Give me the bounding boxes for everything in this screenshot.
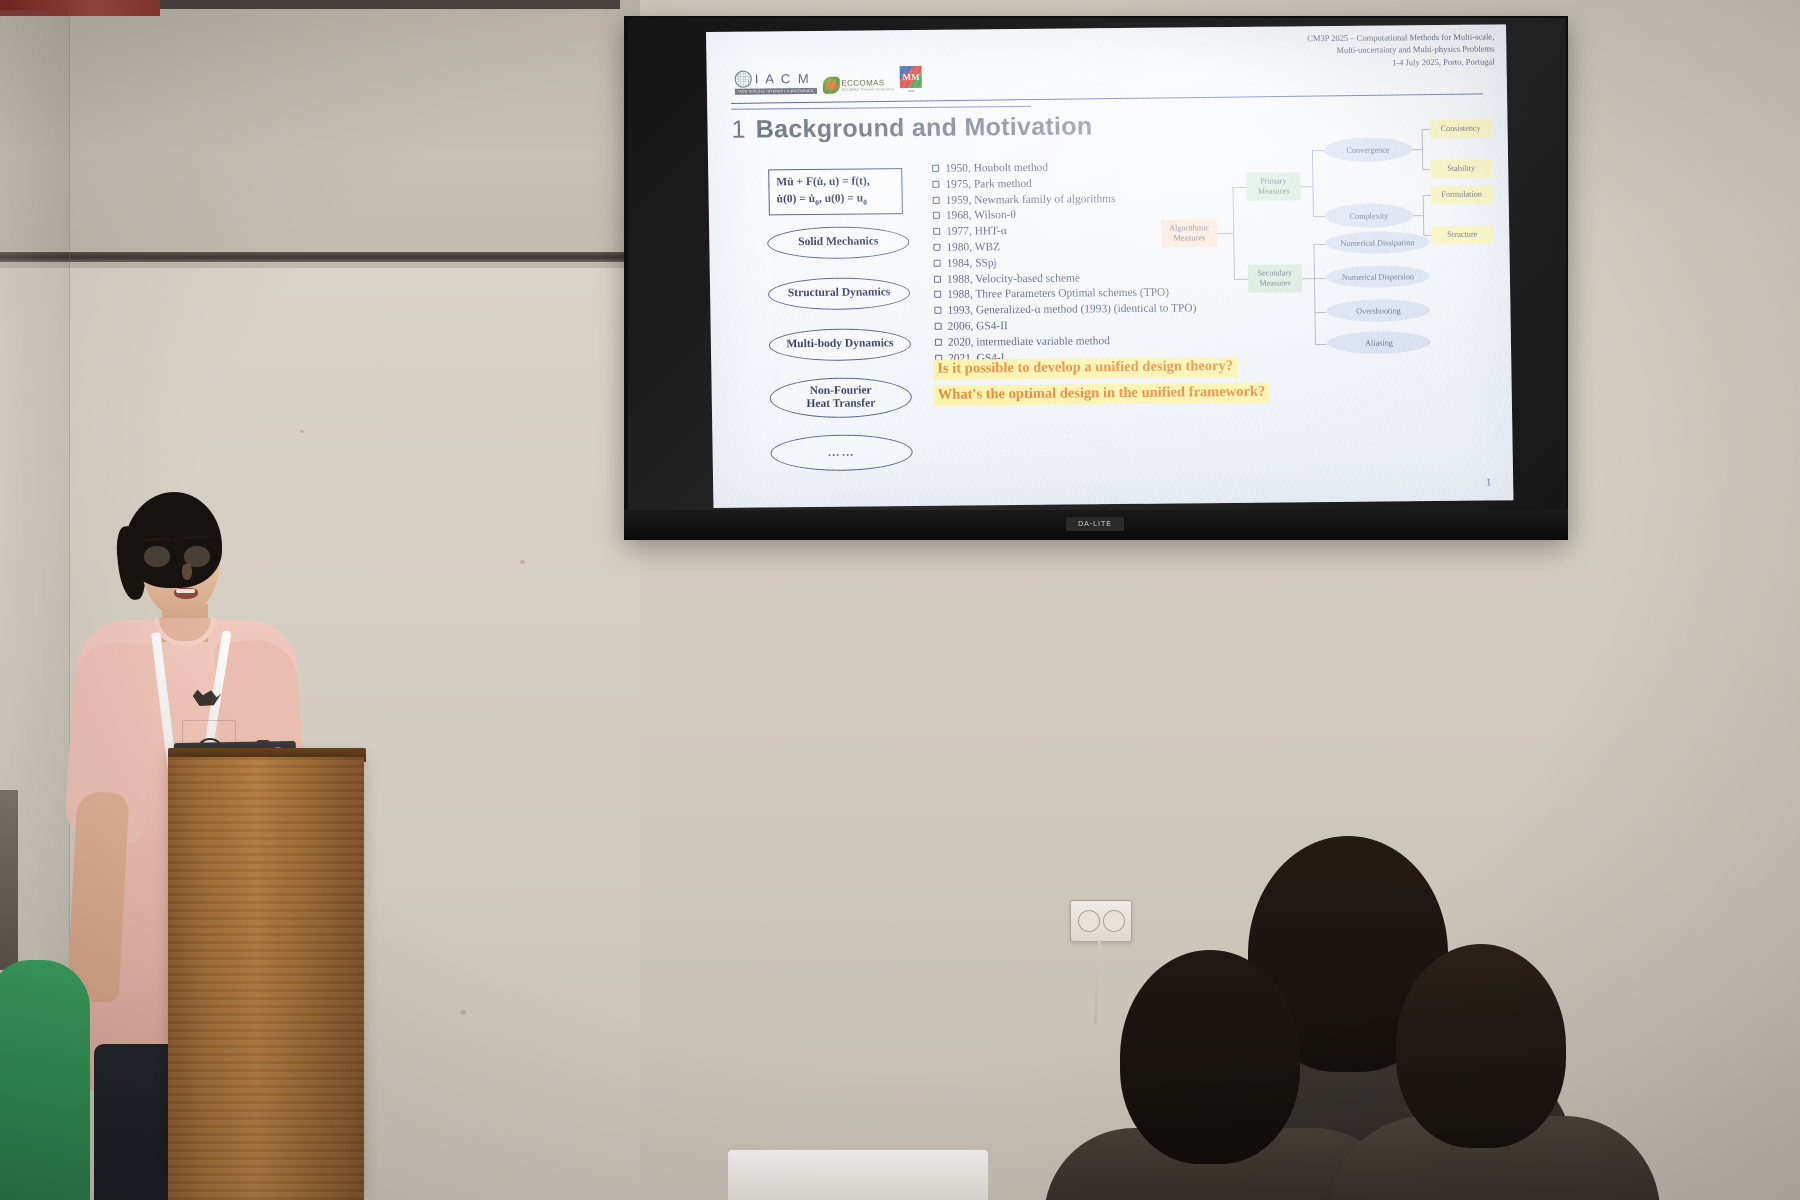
highlighted-questions: Is it possible to develop a unified desi…	[933, 357, 1269, 412]
slide-title-number: 1	[731, 116, 746, 144]
list-item: 1950, Houbolt method	[932, 161, 1194, 175]
speaker-nose	[182, 564, 192, 580]
iacm-logo-text: I A C M	[755, 71, 811, 87]
flow-connector	[1422, 129, 1424, 169]
flow-connector	[1313, 244, 1316, 344]
flow-node-convergence: Convergence	[1324, 137, 1412, 162]
header-divider-secondary	[731, 106, 1031, 110]
lecture-hall-scene: CM3P 2025 – Computational Methods for Mu…	[0, 0, 1800, 1200]
speaker-arm-left	[67, 791, 130, 1003]
question-line-2: What's the optimal design in the unified…	[934, 383, 1270, 406]
flow-connector	[1422, 169, 1430, 170]
flow-connector	[1422, 129, 1430, 130]
list-item: 1977, HHT-α	[933, 224, 1195, 238]
glasses-bridge	[172, 553, 183, 555]
flow-connector	[1217, 233, 1233, 234]
flow-node-primary-measures: Primary Measures	[1246, 172, 1300, 201]
checkbox-icon	[934, 275, 941, 282]
checkbox-icon	[934, 307, 941, 314]
flow-node-numerical-dispersion: Numerical Dispersion	[1326, 265, 1430, 288]
checkbox-icon	[934, 291, 941, 298]
flow-connector	[1232, 187, 1246, 188]
list-item: 1988, Velocity-based scheme	[934, 272, 1196, 286]
logo-row: I A C M IACM SPECIAL INTEREST CONFERENCE…	[735, 66, 923, 95]
audience-green-shirt	[0, 960, 90, 1200]
list-item-label: 1968, Wilson-θ	[946, 210, 1016, 222]
flow-connector	[1313, 244, 1325, 245]
slide-title-text: Background and Motivation	[756, 112, 1093, 143]
eccomas-logo: ECCOMAS ECCOMAS Thematic Conference	[822, 76, 894, 94]
checkbox-icon	[933, 228, 940, 235]
flow-node-aliasing: Aliasing	[1327, 331, 1431, 354]
outlet-socket-left	[1078, 910, 1100, 932]
checkbox-icon	[935, 323, 942, 330]
mm-cube-icon	[900, 66, 922, 88]
list-item-label: 2006, GS4-II	[948, 321, 1008, 333]
list-item: 2020, intermediate variable method	[935, 335, 1197, 349]
flow-node-algorithmic-measures: Algorithmic Measures	[1161, 219, 1217, 248]
flow-connector	[1232, 187, 1234, 279]
checkbox-icon	[933, 196, 940, 203]
flow-connector	[1423, 195, 1431, 196]
wall-blemish	[520, 560, 525, 564]
flow-node-complexity: Complexity	[1325, 203, 1413, 228]
speaker-hair	[124, 492, 222, 588]
flow-node-numerical-dissipation: Numerical Dissipation	[1325, 231, 1429, 254]
flow-connector	[1300, 186, 1312, 187]
header-divider	[731, 93, 1483, 104]
outlet-socket-right	[1103, 910, 1125, 932]
flow-connector	[1312, 150, 1314, 216]
list-item: 1980, WBZ	[933, 240, 1195, 254]
flow-connector	[1313, 216, 1325, 217]
list-item: 1959, Newmark family of algorithms	[933, 193, 1195, 207]
list-item-label: 1988, Velocity-based scheme	[947, 273, 1080, 286]
list-item-label: 1959, Newmark family of algorithms	[946, 194, 1116, 207]
algorithmic-measures-flowchart: Algorithmic Measures Primary Measures Se…	[1160, 124, 1493, 347]
method-timeline-list: 1950, Houbolt method 1975, Park method 1…	[932, 161, 1197, 385]
flow-connector	[1315, 344, 1327, 345]
domain-ellipse-solid-mechanics: Solid Mechanics	[767, 226, 909, 259]
leaf-icon	[822, 77, 839, 94]
flow-connector	[1314, 312, 1326, 313]
slide-title: 1Background and Motivation	[731, 112, 1092, 144]
checkbox-icon	[933, 212, 940, 219]
question-line-1: Is it possible to develop a unified desi…	[933, 357, 1237, 380]
wall-blemish	[460, 1010, 466, 1015]
flow-connector	[1314, 278, 1326, 279]
list-item: 2006, GS4-II	[935, 319, 1197, 333]
iacm-logo-subtitle: IACM SPECIAL INTEREST CONFERENCE	[735, 88, 817, 95]
checkbox-icon	[933, 244, 940, 251]
slide-page-number: 1	[1486, 477, 1491, 488]
domain-ellipse-non-fourier-heat-transfer: Non-Fourier Heat Transfer	[769, 377, 912, 418]
list-item: 1993, Generalized-α method (1993) (ident…	[934, 303, 1196, 317]
wall-rail	[0, 252, 630, 262]
glasses-lens-left	[142, 544, 172, 569]
eccomas-logo-subtitle: ECCOMAS Thematic Conference	[841, 87, 894, 92]
flow-node-secondary-measures: Secondary Measures	[1248, 264, 1302, 293]
foreground-table	[728, 1150, 988, 1200]
mm-logo: 2025	[900, 66, 922, 93]
flow-node-overshooting: Overshooting	[1326, 299, 1430, 322]
list-item-label: 1984, SSpj	[947, 258, 997, 270]
list-item-label: 2020, intermediate variable method	[948, 336, 1110, 349]
equation-line-2: u̇(0) = u̇0, u(0) = u0	[777, 190, 895, 209]
globe-icon	[735, 71, 752, 88]
flow-node-structure: Structure	[1431, 225, 1493, 244]
list-item: 1975, Park method	[932, 177, 1194, 191]
audience-head-left	[1120, 950, 1300, 1164]
checkbox-icon	[935, 339, 942, 346]
conference-header-line-3: 1-4 July 2025, Porto, Portugal	[1308, 55, 1495, 69]
conference-header: CM3P 2025 – Computational Methods for Mu…	[1307, 30, 1494, 69]
list-item-label: 1977, HHT-α	[946, 226, 1007, 238]
domain-ellipse-structural-dynamics: Structural Dynamics	[768, 277, 910, 310]
list-item: 1984, SSpj	[934, 256, 1196, 270]
list-item-label: 1993, Generalized-α method (1993) (ident…	[947, 303, 1196, 317]
flow-node-consistency: Consistency	[1429, 119, 1491, 138]
domain-ellipse-multibody-dynamics: Multi-body Dynamics	[769, 328, 911, 361]
equation-line-1: Mü + F(u̇, u) = f(t),	[776, 173, 894, 191]
list-item: 1968, Wilson-θ	[933, 209, 1195, 223]
power-outlet	[1070, 900, 1132, 942]
checkbox-icon	[932, 181, 939, 188]
flow-connector	[1234, 279, 1248, 280]
wall-blemish	[300, 430, 304, 433]
checkbox-icon	[934, 260, 941, 267]
list-item-label: 1975, Park method	[945, 179, 1032, 191]
governing-equation-box: Mü + F(u̇, u) = f(t), u̇(0) = u̇0, u(0) …	[768, 168, 903, 215]
iacm-logo: I A C M IACM SPECIAL INTEREST CONFERENCE	[735, 70, 817, 95]
list-item-label: 1950, Houbolt method	[945, 163, 1048, 175]
mm-logo-subtitle: 2025	[908, 89, 914, 93]
flow-connector	[1413, 215, 1423, 216]
flow-connector	[1412, 149, 1422, 150]
flow-connector	[1312, 150, 1324, 151]
audience-head-right	[1396, 944, 1566, 1148]
flow-node-formulation: Formulation	[1431, 185, 1493, 204]
list-item-label: 1980, WBZ	[946, 242, 1000, 254]
domain-ellipse-ellipsis: ……	[770, 434, 913, 471]
checkbox-icon	[932, 165, 939, 172]
flow-connector	[1423, 195, 1425, 235]
presentation-slide: CM3P 2025 – Computational Methods for Mu…	[706, 24, 1513, 508]
wall-left-shadow	[0, 790, 18, 970]
flow-connector	[1423, 235, 1431, 236]
screen-brand-label: DA-LITE	[1066, 517, 1124, 531]
wooden-podium	[168, 757, 364, 1200]
flow-connector	[1302, 278, 1314, 279]
flow-node-stability: Stability	[1430, 159, 1492, 178]
wall-upper-band	[0, 0, 640, 258]
podium-wood-grain	[168, 757, 364, 1200]
list-item: 1988, Three Parameters Optimal schemes (…	[934, 288, 1196, 302]
list-item-label: 1988, Three Parameters Optimal schemes (…	[947, 288, 1169, 302]
speaker-teeth	[176, 589, 195, 593]
